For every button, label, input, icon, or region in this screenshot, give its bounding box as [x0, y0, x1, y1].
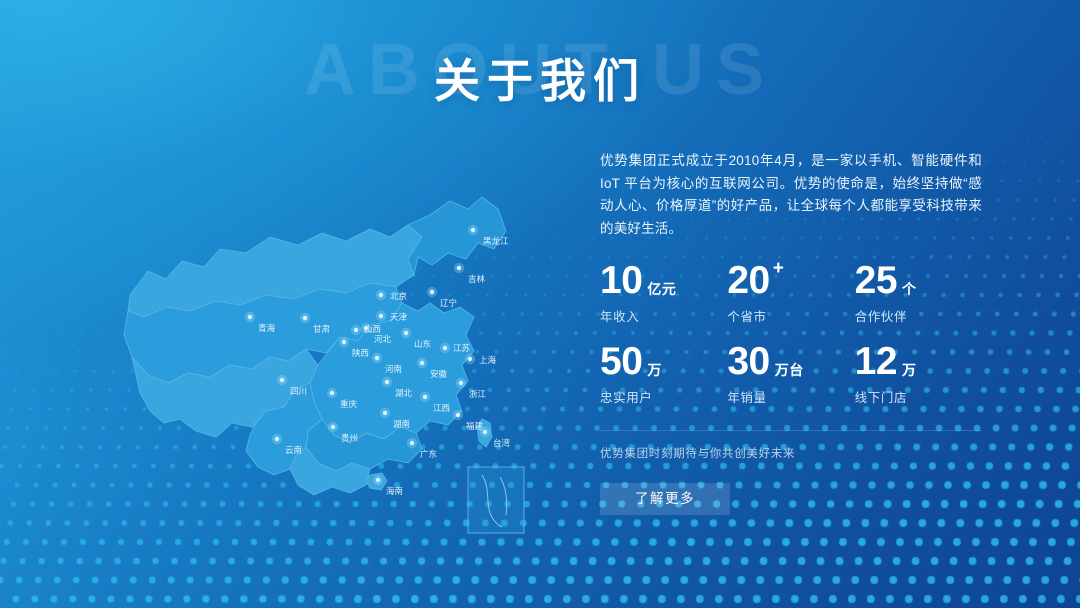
stat-unit: 亿元	[647, 282, 676, 296]
marker-dot	[330, 391, 334, 395]
stat-label: 年收入	[600, 306, 727, 325]
stat-item: 25个合作伙伴	[855, 262, 982, 325]
marker-dot	[410, 441, 414, 445]
marker-label: 河北	[374, 334, 392, 344]
marker-dot	[420, 361, 424, 365]
marker-label: 上海	[479, 355, 497, 365]
stat-number: 20	[727, 262, 769, 299]
map-marker[interactable]: 吉林	[454, 263, 486, 284]
stat-label: 线下门店	[855, 387, 982, 406]
marker-dot	[376, 478, 380, 482]
stat-number: 12	[855, 343, 897, 380]
stat-item: 30万台年销量	[727, 343, 854, 406]
marker-label: 山西	[364, 324, 381, 334]
marker-label: 云南	[285, 445, 302, 455]
marker-label: 安徽	[430, 369, 448, 379]
marker-dot	[468, 357, 472, 361]
marker-dot	[383, 411, 387, 415]
map-marker[interactable]: 江苏	[440, 343, 471, 353]
marker-dot	[342, 340, 346, 344]
stat-number: 50	[600, 343, 642, 380]
stat-unit: 万	[902, 363, 917, 377]
stat-item: 12万线下门店	[855, 343, 982, 406]
marker-dot	[354, 328, 358, 332]
map-marker[interactable]: 福建	[453, 410, 484, 431]
stat-value-row: 10亿元	[600, 262, 727, 299]
marker-dot	[275, 437, 279, 441]
stat-number: 30	[727, 343, 769, 380]
marker-label: 湖南	[393, 419, 410, 429]
marker-dot	[379, 293, 383, 297]
stat-item: 20+个省市	[727, 262, 854, 325]
marker-dot	[423, 395, 427, 399]
marker-dot	[456, 413, 460, 417]
marker-label: 山东	[414, 339, 431, 349]
marker-label: 江西	[433, 403, 450, 413]
stat-value-row: 12万	[855, 343, 982, 380]
stats-grid: 10亿元年收入20+个省市25个合作伙伴50万忠实用户30万台年销量12万线下门…	[600, 262, 982, 406]
south-china-sea-inset	[468, 467, 524, 533]
marker-dot	[459, 381, 463, 385]
marker-dot	[379, 314, 383, 318]
stat-value-row: 50万	[600, 343, 727, 380]
tagline: 优势集团时刻期待与你共创美好未来	[600, 445, 982, 461]
marker-label: 重庆	[340, 399, 358, 409]
map-marker[interactable]: 上海	[465, 354, 497, 365]
marker-label: 黑龙江	[483, 236, 509, 246]
map-marker[interactable]: 山西	[351, 324, 381, 335]
learn-more-button[interactable]: 了解更多	[600, 483, 730, 515]
marker-dot	[303, 316, 307, 320]
stat-unit: 万	[647, 363, 662, 377]
marker-label: 吉林	[468, 274, 486, 284]
map-marker[interactable]: 北京	[376, 290, 407, 301]
marker-label: 天津	[390, 312, 408, 322]
stat-item: 10亿元年收入	[600, 262, 727, 325]
marker-dot	[404, 331, 408, 335]
marker-label: 青海	[258, 323, 276, 333]
marker-dot	[375, 356, 379, 360]
marker-label: 海南	[386, 486, 403, 496]
about-content-column: 优势集团正式成立于2010年4月，是一家以手机、智能硬件和 IoT 平台为核心的…	[600, 150, 982, 515]
stat-label: 个省市	[727, 306, 854, 325]
stat-item: 50万忠实用户	[600, 343, 727, 406]
about-us-section: ABOUT US 关于我们 黑龙江吉	[0, 0, 1080, 608]
stat-value-row: 25个	[855, 262, 982, 299]
marker-label: 江苏	[453, 343, 471, 353]
marker-label: 辽宁	[440, 298, 457, 308]
stat-value-row: 30万台	[727, 343, 854, 380]
marker-label: 陕西	[352, 348, 369, 358]
marker-dot	[385, 380, 389, 384]
stat-label: 年销量	[727, 387, 854, 406]
marker-dot	[443, 346, 447, 350]
china-map[interactable]: 黑龙江吉林辽宁北京天津河北山东山西甘肃青海陕西河南四川湖北安徽江苏上海浙江重庆江…	[70, 175, 550, 545]
marker-label: 广东	[420, 449, 437, 459]
marker-label: 河南	[385, 364, 402, 374]
marker-label: 甘肃	[313, 324, 331, 334]
marker-dot	[457, 266, 461, 270]
stat-superscript: +	[773, 262, 784, 275]
marker-dot	[248, 315, 252, 319]
marker-label: 四川	[290, 386, 307, 396]
stat-label: 忠实用户	[600, 387, 727, 406]
stat-label: 合作伙伴	[855, 306, 982, 325]
marker-dot	[331, 425, 335, 429]
marker-dot	[483, 430, 487, 434]
marker-dot	[430, 290, 434, 294]
marker-label: 贵州	[341, 433, 358, 443]
stat-value-row: 20+	[727, 262, 854, 299]
marker-label: 湖北	[395, 388, 413, 398]
intro-paragraph: 优势集团正式成立于2010年4月，是一家以手机、智能硬件和 IoT 平台为核心的…	[600, 150, 982, 240]
marker-label: 台湾	[493, 438, 511, 448]
page-title: 关于我们	[0, 56, 1080, 107]
map-marker[interactable]: 天津	[376, 311, 408, 322]
marker-dot	[280, 378, 284, 382]
marker-dot	[471, 228, 475, 232]
stat-number: 10	[600, 262, 642, 299]
stat-unit: 万台	[775, 363, 804, 377]
divider	[600, 430, 982, 431]
marker-label: 浙江	[469, 389, 487, 399]
marker-label: 北京	[390, 291, 407, 301]
stat-unit: 个	[902, 282, 917, 296]
stat-number: 25	[855, 262, 897, 299]
